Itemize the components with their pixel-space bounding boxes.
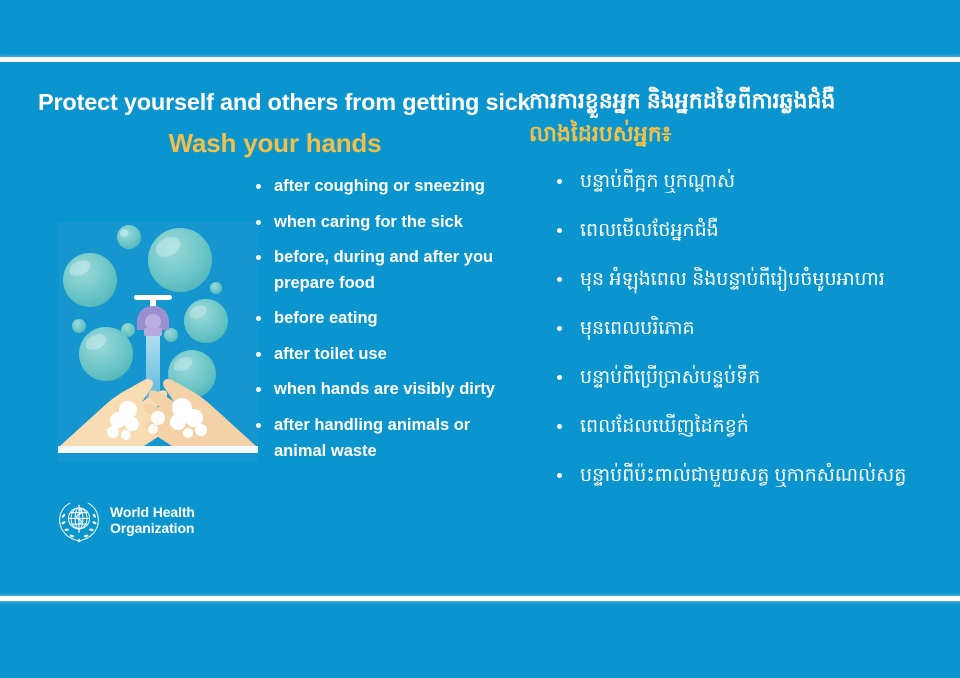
khmer-heading-line-1: ការការខ្លួនអ្នក និងអ្នកដទៃពីការឆ្លងជំងឺ — [529, 86, 959, 116]
bullet-dot-icon — [557, 277, 562, 282]
list-item: បន្ទាប់ពីប្រើប្រាស់បន្ទប់ទឹក — [554, 366, 960, 415]
list-item-text: មុន អំឡុងពេល និងបន្ទាប់ពីរៀបចំមូបអាហារ — [580, 268, 885, 292]
list-item: បន្ទាប់ពីប៉ះពាល់ជាមួយសត្វ ឬកាកសំណល់សត្វ — [554, 464, 960, 513]
who-logo-line-2: Organization — [110, 521, 195, 537]
list-item: ពេលដែលឃើញដៃកខ្វក់ — [554, 415, 960, 464]
list-item: after coughing or sneezing — [252, 174, 514, 200]
bullet-dot-icon — [557, 326, 562, 331]
who-logo: World Health Organization — [57, 499, 195, 543]
english-bullet-list: after coughing or sneezing when caring f… — [252, 174, 514, 474]
list-item: after toilet use — [252, 342, 514, 368]
bottom-divider-rule — [0, 596, 960, 601]
bullet-dot-icon — [557, 473, 562, 478]
english-headline: Protect yourself and others from getting… — [38, 89, 512, 116]
list-item-text: when hands are visibly dirty — [274, 380, 495, 398]
english-column: Protect yourself and others from getting… — [0, 62, 520, 596]
poster-panel: Protect yourself and others from getting… — [0, 62, 960, 596]
handwashing-illustration — [58, 222, 258, 462]
khmer-bullet-list: បន្ទាប់ពីក្អក ឬកណ្ដាស់ ពេលមើលថែអ្នកជំងឺ … — [554, 170, 960, 513]
list-item: ពេលមើលថែអ្នកជំងឺ — [554, 219, 960, 268]
bullet-dot-icon — [557, 179, 562, 184]
bullet-dot-icon — [256, 184, 261, 189]
bullet-dot-icon — [557, 424, 562, 429]
bullet-dot-icon — [256, 316, 261, 321]
list-item-text: when caring for the sick — [274, 213, 463, 231]
list-item: after handling animals or animal waste — [252, 413, 514, 464]
who-logo-line-1: World Health — [110, 505, 195, 521]
handwashing-illustration-svg — [58, 222, 258, 462]
list-item-text: after toilet use — [274, 345, 387, 363]
list-item-text: បន្ទាប់ពីប៉ះពាល់ជាមួយសត្វ ឬកាកសំណល់សត្វ — [580, 464, 906, 488]
list-item: បន្ទាប់ពីក្អក ឬកណ្ដាស់ — [554, 170, 960, 219]
list-item: when caring for the sick — [252, 210, 514, 236]
list-item: before eating — [252, 306, 514, 332]
bullet-dot-icon — [256, 352, 261, 357]
list-item-text: បន្ទាប់ពីប្រើប្រាស់បន្ទប់ទឹក — [580, 366, 760, 390]
list-item-text: ពេលមើលថែអ្នកជំងឺ — [580, 219, 719, 243]
bullet-dot-icon — [256, 220, 261, 225]
khmer-heading-line-2: លាងដៃរបស់អ្នក៖ — [529, 119, 959, 149]
list-item: before, during and after you prepare foo… — [252, 245, 514, 296]
list-item: មុនពេលបរិភោគ — [554, 317, 960, 366]
list-item-text: before, during and after you prepare foo… — [274, 248, 493, 292]
bullet-dot-icon — [256, 255, 261, 260]
who-emblem-icon — [57, 499, 101, 543]
bullet-dot-icon — [557, 228, 562, 233]
list-item-text: បន្ទាប់ពីក្អក ឬកណ្ដាស់ — [580, 170, 735, 194]
khmer-column: ការការខ្លួនអ្នក និងអ្នកដទៃពីការឆ្លងជំងឺ … — [520, 62, 960, 596]
list-item-text: after coughing or sneezing — [274, 177, 485, 195]
list-item: មុន អំឡុងពេល និងបន្ទាប់ពីរៀបចំមូបអាហារ — [554, 268, 960, 317]
who-logo-text: World Health Organization — [110, 505, 195, 536]
list-item-text: after handling animals or animal waste — [274, 416, 470, 460]
english-subheading: Wash your hands — [38, 128, 512, 159]
bullet-dot-icon — [256, 387, 261, 392]
list-item-text: before eating — [274, 309, 378, 327]
bullet-dot-icon — [256, 423, 261, 428]
bullet-dot-icon — [557, 375, 562, 380]
list-item-text: ពេលដែលឃើញដៃកខ្វក់ — [580, 415, 749, 439]
list-item: when hands are visibly dirty — [252, 377, 514, 403]
list-item-text: មុនពេលបរិភោគ — [580, 317, 695, 341]
